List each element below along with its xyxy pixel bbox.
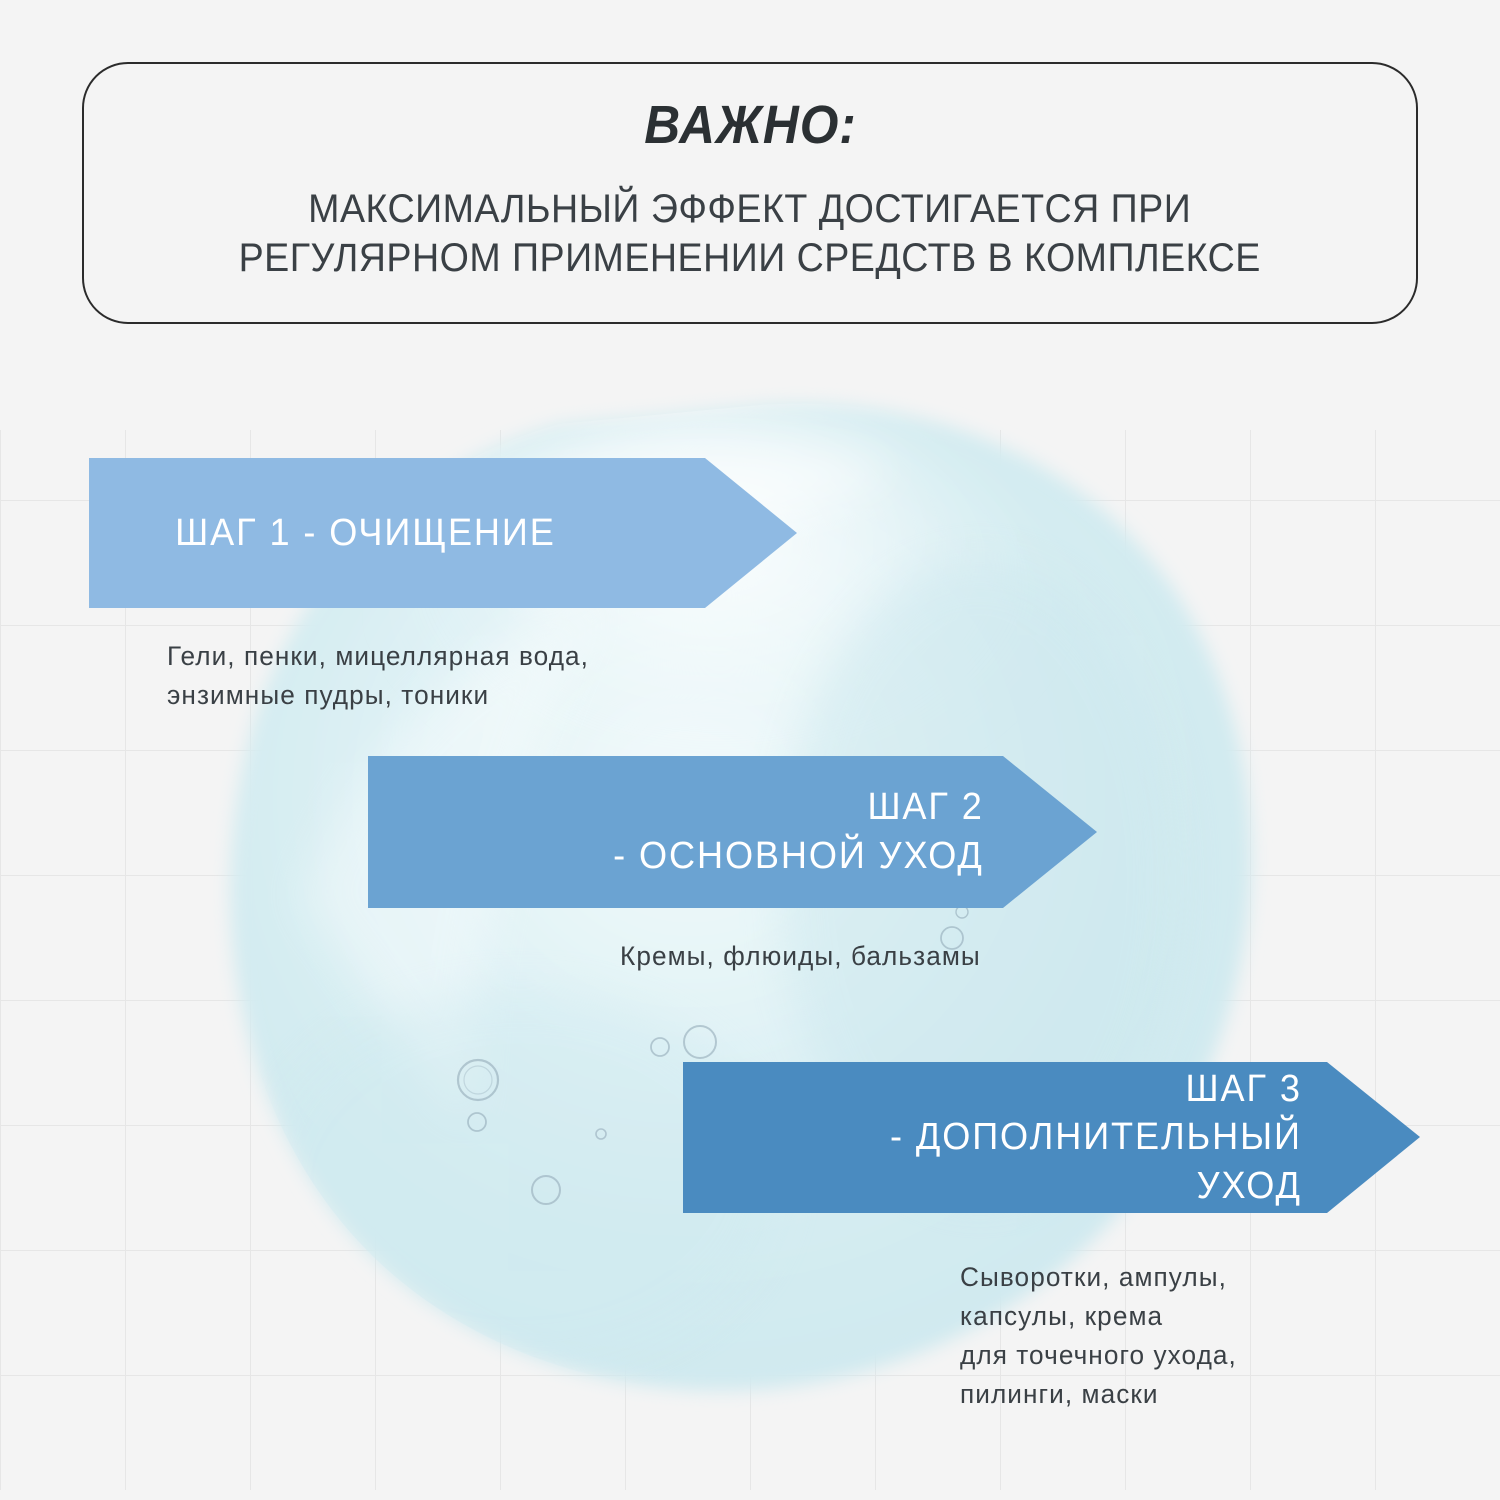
step-3-caption: Сыворотки, ампулы, капсулы, крема для то… xyxy=(960,1258,1237,1415)
step-3-label: ШАГ 3 - ДОПОЛНИТЕЛЬНЫЙ УХОД xyxy=(701,1065,1401,1211)
important-callout-box: ВАЖНО: МАКСИМАЛЬНЫЙ ЭФФЕКТ ДОСТИГАЕТСЯ П… xyxy=(82,62,1418,324)
step-3-arrow[interactable]: ШАГ 3 - ДОПОЛНИТЕЛЬНЫЙ УХОД xyxy=(683,1062,1420,1213)
step-2-caption: Кремы, флюиды, бальзамы xyxy=(620,937,981,976)
step-1-arrow[interactable]: ШАГ 1 - ОЧИЩЕНИЕ xyxy=(89,458,797,608)
page-title: ВАЖНО: xyxy=(644,96,857,155)
step-1-label: ШАГ 1 - ОЧИЩЕНИЕ xyxy=(107,509,780,558)
page-subtitle: МАКСИМАЛЬНЫЙ ЭФФЕКТ ДОСТИГАЕТСЯ ПРИ РЕГУ… xyxy=(239,185,1261,283)
step-1-caption: Гели, пенки, мицеллярная вода, энзимные … xyxy=(167,637,589,715)
step-2-arrow[interactable]: ШАГ 2 - ОСНОВНОЙ УХОД xyxy=(368,756,1097,908)
step-2-label: ШАГ 2 - ОСНОВНОЙ УХОД xyxy=(386,783,1079,880)
